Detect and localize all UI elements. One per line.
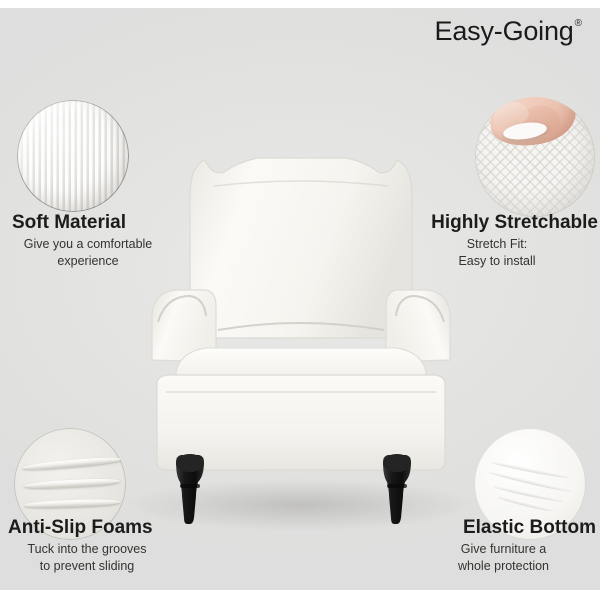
feature-elastic-bottom: Elastic Bottom Give furniture a whole pr… xyxy=(396,517,596,575)
soft-material-swatch-icon xyxy=(17,100,129,212)
feature-subtitle-line: Stretch Fit: xyxy=(404,236,590,253)
feature-title: Highly Stretchable xyxy=(388,212,598,233)
highly-stretchable-swatch-icon xyxy=(475,97,595,217)
feature-soft-material: Soft Material Give you a comfortable exp… xyxy=(12,212,212,270)
feature-subtitle-line: Tuck into the grooves xyxy=(8,541,166,558)
feature-subtitle-line: experience xyxy=(12,253,164,270)
feature-subtitle-line: Easy to install xyxy=(404,253,590,270)
feature-subtitle: Give you a comfortable experience xyxy=(12,236,164,270)
feature-subtitle: Tuck into the grooves to prevent sliding xyxy=(8,541,166,575)
feature-subtitle: Stretch Fit: Easy to install xyxy=(404,236,590,270)
feature-subtitle-line: whole protection xyxy=(416,558,591,575)
feature-subtitle-line: to prevent sliding xyxy=(8,558,166,575)
feature-subtitle: Give furniture a whole protection xyxy=(416,541,591,575)
feature-title: Anti-Slip Foams xyxy=(8,517,208,538)
feature-subtitle-line: Give furniture a xyxy=(416,541,591,558)
feature-subtitle-line: Give you a comfortable xyxy=(12,236,164,253)
brand-name: Easy-Going xyxy=(435,18,574,45)
foam-strip xyxy=(24,477,120,489)
feature-title: Soft Material xyxy=(12,212,212,233)
foam-strip xyxy=(22,456,122,472)
brand-logo: Easy-Going ® xyxy=(435,18,582,45)
feature-title: Elastic Bottom xyxy=(396,517,596,538)
feature-highly-stretchable: Highly Stretchable Stretch Fit: Easy to … xyxy=(388,212,598,270)
foam-strip xyxy=(24,498,120,508)
registered-trademark-icon: ® xyxy=(575,19,582,29)
feature-anti-slip-foams: Anti-Slip Foams Tuck into the grooves to… xyxy=(8,517,208,575)
product-infographic: Easy-Going ® xyxy=(0,0,600,600)
